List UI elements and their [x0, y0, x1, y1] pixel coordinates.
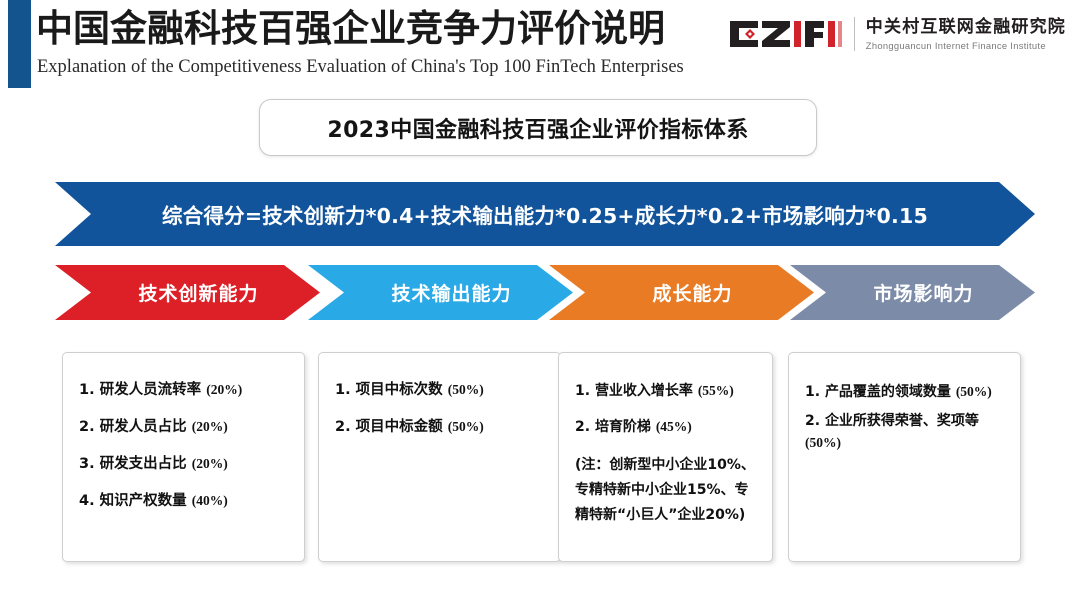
slide-header: 中国金融科技百强企业竞争力评价说明 Explanation of the Com…	[0, 0, 1080, 92]
metric-weight: (20%)	[192, 419, 228, 434]
metric-index: 4.	[79, 493, 95, 509]
metric-index: 2.	[575, 419, 590, 435]
metric-name: 项目中标金额	[356, 419, 443, 435]
metric-weight: (50%)	[805, 435, 841, 450]
index-system-title: 2023中国金融科技百强企业评价指标体系	[327, 112, 748, 144]
metric-item: 3. 研发支出占比 (20%)	[79, 455, 294, 473]
metric-item: 4. 知识产权数量 (40%)	[79, 492, 294, 510]
header-accent-bar	[8, 0, 31, 88]
metric-item: 1. 项目中标次数 (50%)	[335, 381, 550, 399]
score-formula-text: 综合得分=技术创新力*0.4+技术输出能力*0.25+成长力*0.2+市场影响力…	[162, 199, 928, 229]
metric-name: 营业收入增长率	[595, 383, 693, 399]
pillar-market-influence: 市场影响力	[790, 265, 1035, 320]
czifi-logomark-icon	[728, 19, 844, 49]
metric-card-tech-output: 1. 项目中标次数 (50%) 2. 项目中标金额 (50%)	[318, 352, 561, 562]
pillar-label-3: 市场影响力	[851, 279, 973, 306]
metric-item: 2. 项目中标金额 (50%)	[335, 418, 550, 436]
metric-weight: (40%)	[192, 493, 228, 508]
institute-logo: 中关村互联网金融研究院 Zhongguancun Internet Financ…	[728, 10, 1066, 58]
pillar-growth: 成长能力	[549, 265, 814, 320]
logo-name-en: Zhongguancun Internet Finance Institute	[866, 39, 1066, 52]
metric-index: 3.	[79, 456, 95, 472]
metric-item: 2. 企业所获得荣誉、奖项等 (50%)	[805, 411, 1010, 454]
metric-index: 2.	[335, 419, 351, 435]
pillar-label-1: 技术输出能力	[369, 279, 511, 306]
metric-index: 1.	[575, 383, 590, 399]
pillar-label-2: 成长能力	[630, 279, 732, 306]
metric-name: 研发人员占比	[100, 419, 187, 435]
pillar-chevron-row: 技术创新能力 技术输出能力 成长能力 市场影响力	[55, 265, 1035, 320]
metric-weight: (20%)	[206, 382, 242, 397]
score-formula-banner: 综合得分=技术创新力*0.4+技术输出能力*0.25+成长力*0.2+市场影响力…	[55, 182, 1035, 246]
metric-note: (注：创新型中小企业10%、专精特新中小企业15%、专精特新“小巨人”企业20%…	[575, 453, 762, 528]
logo-text-block: 中关村互联网金融研究院 Zhongguancun Internet Financ…	[866, 17, 1066, 52]
index-system-title-box: 2023中国金融科技百强企业评价指标体系	[259, 99, 817, 156]
pillar-tech-output: 技术输出能力	[308, 265, 573, 320]
pillar-label-0: 技术创新能力	[116, 279, 258, 306]
metric-card-growth: 1. 营业收入增长率 (55%) 2. 培育阶梯 (45%) (注：创新型中小企…	[558, 352, 773, 562]
metric-card-row: 1. 研发人员流转率 (20%) 2. 研发人员占比 (20%) 3. 研发支出…	[0, 352, 1080, 564]
metric-index: 2.	[805, 413, 820, 429]
metric-name: 培育阶梯	[595, 419, 651, 435]
metric-name: 企业所获得荣誉、奖项等	[825, 413, 979, 429]
metric-name: 项目中标次数	[356, 382, 443, 398]
metric-index: 2.	[79, 419, 95, 435]
metric-weight: (50%)	[448, 382, 484, 397]
metric-name: 研发人员流转率	[100, 382, 202, 398]
metric-card-market-influence: 1. 产品覆盖的领域数量 (50%) 2. 企业所获得荣誉、奖项等 (50%)	[788, 352, 1021, 562]
metric-card-tech-innovation: 1. 研发人员流转率 (20%) 2. 研发人员占比 (20%) 3. 研发支出…	[62, 352, 305, 562]
metric-item: 1. 研发人员流转率 (20%)	[79, 381, 294, 399]
slide-root: 中国金融科技百强企业竞争力评价说明 Explanation of the Com…	[0, 0, 1080, 608]
metric-weight: (55%)	[698, 383, 734, 398]
logo-divider	[854, 17, 855, 51]
metric-name: 研发支出占比	[100, 456, 187, 472]
metric-weight: (20%)	[192, 456, 228, 471]
page-subtitle: Explanation of the Competitiveness Evalu…	[37, 57, 684, 78]
metric-item: 1. 产品覆盖的领域数量 (50%)	[805, 381, 1010, 403]
metric-name: 产品覆盖的领域数量	[825, 384, 951, 400]
metric-weight: (50%)	[448, 419, 484, 434]
metric-index: 1.	[79, 382, 95, 398]
metric-index: 1.	[335, 382, 351, 398]
metric-item: 2. 研发人员占比 (20%)	[79, 418, 294, 436]
page-title: 中国金融科技百强企业竞争力评价说明	[36, 6, 665, 52]
metric-weight: (45%)	[656, 419, 692, 434]
metric-item: 1. 营业收入增长率 (55%)	[575, 381, 762, 401]
metric-weight: (50%)	[956, 384, 992, 399]
metric-name: 知识产权数量	[100, 493, 187, 509]
logo-name-zh: 中关村互联网金融研究院	[866, 17, 1066, 37]
metric-index: 1.	[805, 384, 820, 400]
metric-item: 2. 培育阶梯 (45%)	[575, 417, 762, 437]
pillar-tech-innovation: 技术创新能力	[55, 265, 320, 320]
